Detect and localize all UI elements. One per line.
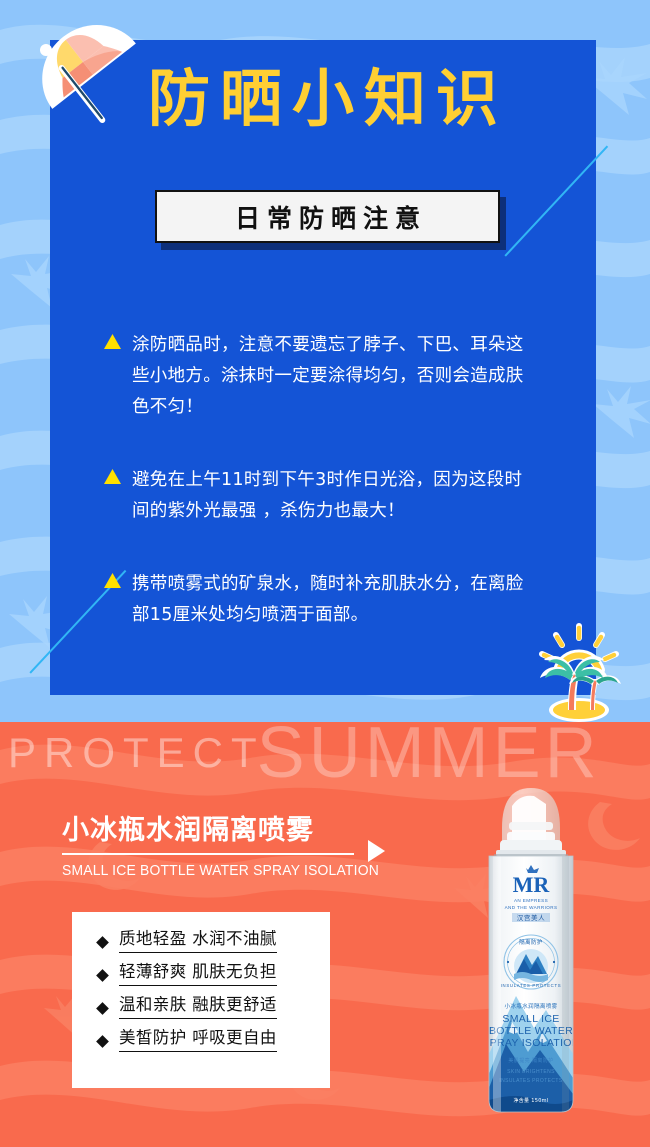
feature-item: 质地轻盈 水润不油腻 xyxy=(72,928,330,953)
feature-item: 美皙防护 呼吸更自由 xyxy=(72,1027,330,1052)
subtitle-box: 日常防晒注意 xyxy=(155,190,500,243)
sunscreen-tips-section: 防晒小知识 日常防晒注意 涂防晒品时，注意不要遗忘了脖子、下巴、耳朵这些小地方。… xyxy=(0,0,650,722)
beach-umbrella-icon xyxy=(22,22,144,140)
svg-text:隔离防护: 隔离防护 xyxy=(519,938,543,946)
watermark-protect: PROTECT xyxy=(0,729,265,777)
feature-item: 温和亲肤 融肤更舒适 xyxy=(72,994,330,1019)
tip-item: 携带喷雾式的矿泉水，随时补充肌肤水分，在离脸部15厘米处均匀喷洒于面部。 xyxy=(104,569,524,631)
svg-text:AND THE WARRIORS: AND THE WARRIORS xyxy=(505,905,558,910)
palm-tree-sun-icon xyxy=(528,622,630,722)
watermark-text: PROTECT SUMMER xyxy=(0,722,650,784)
black-diamond-icon xyxy=(96,969,109,982)
play-triangle-icon xyxy=(368,840,385,862)
svg-text:美肌提亮 隔离防护: 美肌提亮 隔离防护 xyxy=(508,1057,553,1064)
svg-text:INSULATES PROTECTS: INSULATES PROTECTS xyxy=(501,983,562,988)
svg-text:MR: MR xyxy=(513,872,551,897)
svg-text:INSULATES PROTECTS: INSULATES PROTECTS xyxy=(499,1078,562,1084)
feature-text: 质地轻盈 水润不油腻 xyxy=(119,928,277,953)
tip-item: 避免在上午11时到下午3时作日光浴，因为这段时间的紫外光最强 ，杀伤力也最大！ xyxy=(104,465,524,527)
product-bottle-image: MR AN EMPRESS AND THE WARRIORS 汉宫美人 隔离防护… xyxy=(476,782,586,1114)
tips-list: 涂防晒品时，注意不要遗忘了脖子、下巴、耳朵这些小地方。涂抹时一定要涂得均匀，否则… xyxy=(104,330,524,673)
tip-text: 涂防晒品时，注意不要遗忘了脖子、下巴、耳朵这些小地方。涂抹时一定要涂得均匀，否则… xyxy=(132,330,524,423)
feature-item: 轻薄舒爽 肌肤无负担 xyxy=(72,961,330,986)
svg-text:SMALL ICE: SMALL ICE xyxy=(502,1013,559,1025)
product-title-cn: 小冰瓶水润隔离喷雾 xyxy=(62,808,392,853)
svg-text:BOTTLE WATER: BOTTLE WATER xyxy=(489,1025,573,1037)
svg-text:SKIN BRIGHTENS: SKIN BRIGHTENS xyxy=(507,1069,555,1075)
yellow-triangle-icon xyxy=(104,334,121,423)
feature-text: 温和亲肤 融肤更舒适 xyxy=(119,994,277,1019)
yellow-triangle-icon xyxy=(104,573,121,631)
tip-text: 避免在上午11时到下午3时作日光浴，因为这段时间的紫外光最强 ，杀伤力也最大！ xyxy=(132,465,524,527)
black-diamond-icon xyxy=(96,1035,109,1048)
watermark-summer: SUMMER xyxy=(257,722,601,784)
tip-item: 涂防晒品时，注意不要遗忘了脖子、下巴、耳朵这些小地方。涂抹时一定要涂得均匀，否则… xyxy=(104,330,524,423)
feature-text: 美皙防护 呼吸更自由 xyxy=(119,1027,277,1052)
subtitle-text: 日常防晒注意 xyxy=(228,199,427,235)
black-diamond-icon xyxy=(96,1002,109,1015)
svg-text:汉宫美人: 汉宫美人 xyxy=(517,913,545,922)
svg-text:小冰瓶水润隔离喷雾: 小冰瓶水润隔离喷雾 xyxy=(504,1002,557,1010)
yellow-triangle-icon xyxy=(104,469,121,527)
product-feature-list: 质地轻盈 水润不油腻 轻薄舒爽 肌肤无负担 温和亲肤 融肤更舒适 美皙防护 呼吸… xyxy=(72,912,330,1088)
feature-text: 轻薄舒爽 肌肤无负担 xyxy=(119,961,277,986)
svg-text:净含量 150ml: 净含量 150ml xyxy=(513,1097,548,1104)
svg-text:AN EMPRESS: AN EMPRESS xyxy=(514,898,548,903)
subtitle-banner: 日常防晒注意 xyxy=(155,190,500,243)
promo-page: 防晒小知识 日常防晒注意 涂防晒品时，注意不要遗忘了脖子、下巴、耳朵这些小地方。… xyxy=(0,0,650,1147)
product-title-block: 小冰瓶水润隔离喷雾 SMALL ICE BOTTLE WATER SPRAY I… xyxy=(62,808,392,879)
product-title-en: SMALL ICE BOTTLE WATER SPRAY ISOLATION xyxy=(62,863,379,879)
tip-text: 携带喷雾式的矿泉水，随时补充肌肤水分，在离脸部15厘米处均匀喷洒于面部。 xyxy=(132,569,524,631)
black-diamond-icon xyxy=(96,936,109,949)
product-title-underline xyxy=(62,853,354,855)
